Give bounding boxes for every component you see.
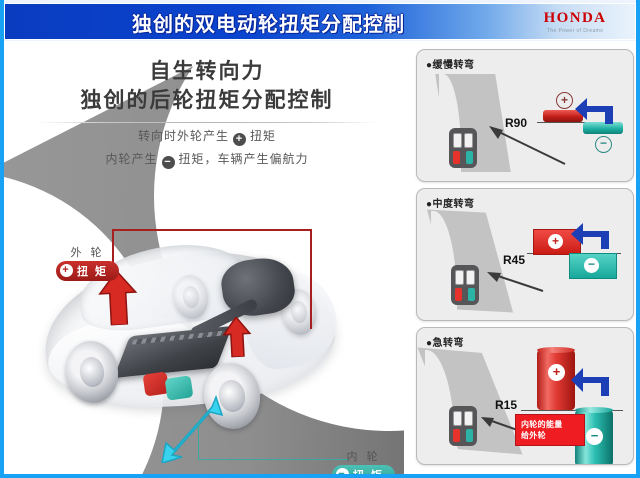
subtitle-2-text-b: 扭矩，车辆产生偏航力 [179, 152, 309, 166]
panel-1-car [449, 128, 477, 168]
panel-2-plus-icon: + [548, 234, 563, 249]
connector-line-inner-v [198, 421, 199, 459]
connector-line-inner-h [198, 459, 348, 460]
panel-sharp-turn: ●急转弯 R15 + − 内轮的能量 [416, 327, 634, 465]
bottom-edge-border [0, 474, 640, 478]
honda-logo: HONDA The Power of Dreams [527, 11, 623, 34]
panel-moderate-turn: ●中度转弯 R45 + − [416, 188, 634, 321]
outer-torque-text: 扭 矩 [77, 263, 108, 279]
panel-1-radius-arrow [489, 124, 567, 166]
panel-3-title: ●急转弯 [426, 334, 464, 349]
panel-2-steer-arrow [569, 221, 613, 249]
connector-line-outer-right [310, 229, 312, 329]
heading-divider [37, 122, 377, 123]
outer-wheel-caption: 外 轮 [56, 247, 119, 260]
panel-1-title: ●缓慢转弯 [426, 56, 475, 71]
panel-2-minus-icon: − [584, 258, 599, 273]
torque-arrow-cyan-inner [158, 393, 224, 463]
heading-line-1: 自生转向力 [32, 57, 382, 86]
inner-wheel-torque-badge: − 扭 矩 [332, 465, 395, 475]
honda-wordmark: HONDA [527, 11, 623, 26]
panel-2-radius-label: R45 [503, 253, 525, 267]
inner-torque-text: 扭 矩 [353, 467, 384, 475]
slide-header: 独创的双电动轮扭矩分配控制 HONDA The Power of Dreams [4, 3, 636, 40]
panel-3-car [449, 406, 477, 446]
panel-1-radius-label: R90 [505, 116, 527, 130]
panel-3-steer-arrow [569, 366, 613, 396]
inner-wheel-label-group: 内 轮 − 扭 矩 [332, 451, 395, 474]
plus-symbol-icon: + [233, 133, 246, 146]
panel-3-callout-line-1: 内轮的能量 [521, 419, 579, 430]
panel-2-car [451, 265, 479, 305]
subtitle-1-text-b: 扭矩 [250, 129, 276, 143]
panel-1-steer-arrow [573, 96, 617, 124]
minus-symbol-icon: − [162, 156, 175, 169]
panel-1-plus-icon: + [556, 92, 573, 109]
panel-3-radius-label: R15 [495, 398, 517, 412]
slide-content: 自生转向力 独创的后轮扭矩分配控制 转向时外轮产生+扭矩 内轮产生−扭矩，车辆产… [4, 41, 636, 474]
panel-3-callout: 内轮的能量 给外轮 [515, 414, 585, 446]
heading-line-2: 独创的后轮扭矩分配控制 [32, 86, 382, 115]
outer-wheel-torque-badge: + 扭 矩 [56, 261, 119, 281]
subtitle-line-1: 转向时外轮产生+扭矩 [32, 127, 382, 146]
panel-slow-turn: ●缓慢转弯 R90 + − [416, 49, 634, 182]
honda-tagline: The Power of Dreams [527, 28, 623, 34]
slide-root: 独创的双电动轮扭矩分配控制 HONDA The Power of Dreams … [0, 0, 640, 478]
panel-2-radius-arrow [487, 269, 545, 295]
panel-3-plus-icon: + [548, 364, 565, 381]
subtitle-line-2: 内轮产生−扭矩，车辆产生偏航力 [32, 150, 382, 169]
subtitle-1-text-a: 转向时外轮产生 [138, 129, 229, 143]
minus-badge-icon: − [336, 468, 349, 474]
panel-3-minus-icon: − [586, 428, 603, 445]
inner-wheel-caption: 内 轮 [332, 451, 395, 464]
panel-3-callout-line-2: 给外轮 [521, 430, 579, 441]
plus-badge-icon: + [60, 264, 73, 277]
connector-line-outer-top [112, 229, 312, 231]
outer-wheel-label-group: 外 轮 + 扭 矩 [56, 247, 119, 281]
main-heading-block: 自生转向力 独创的后轮扭矩分配控制 转向时外轮产生+扭矩 内轮产生−扭矩，车辆产… [32, 57, 382, 169]
right-edge-border [636, 0, 640, 478]
panel-1-minus-icon: − [595, 136, 612, 153]
subtitle-2-text-a: 内轮产生 [105, 152, 157, 166]
panel-2-title: ●中度转弯 [426, 195, 475, 210]
torque-arrow-red-rear [221, 316, 253, 358]
